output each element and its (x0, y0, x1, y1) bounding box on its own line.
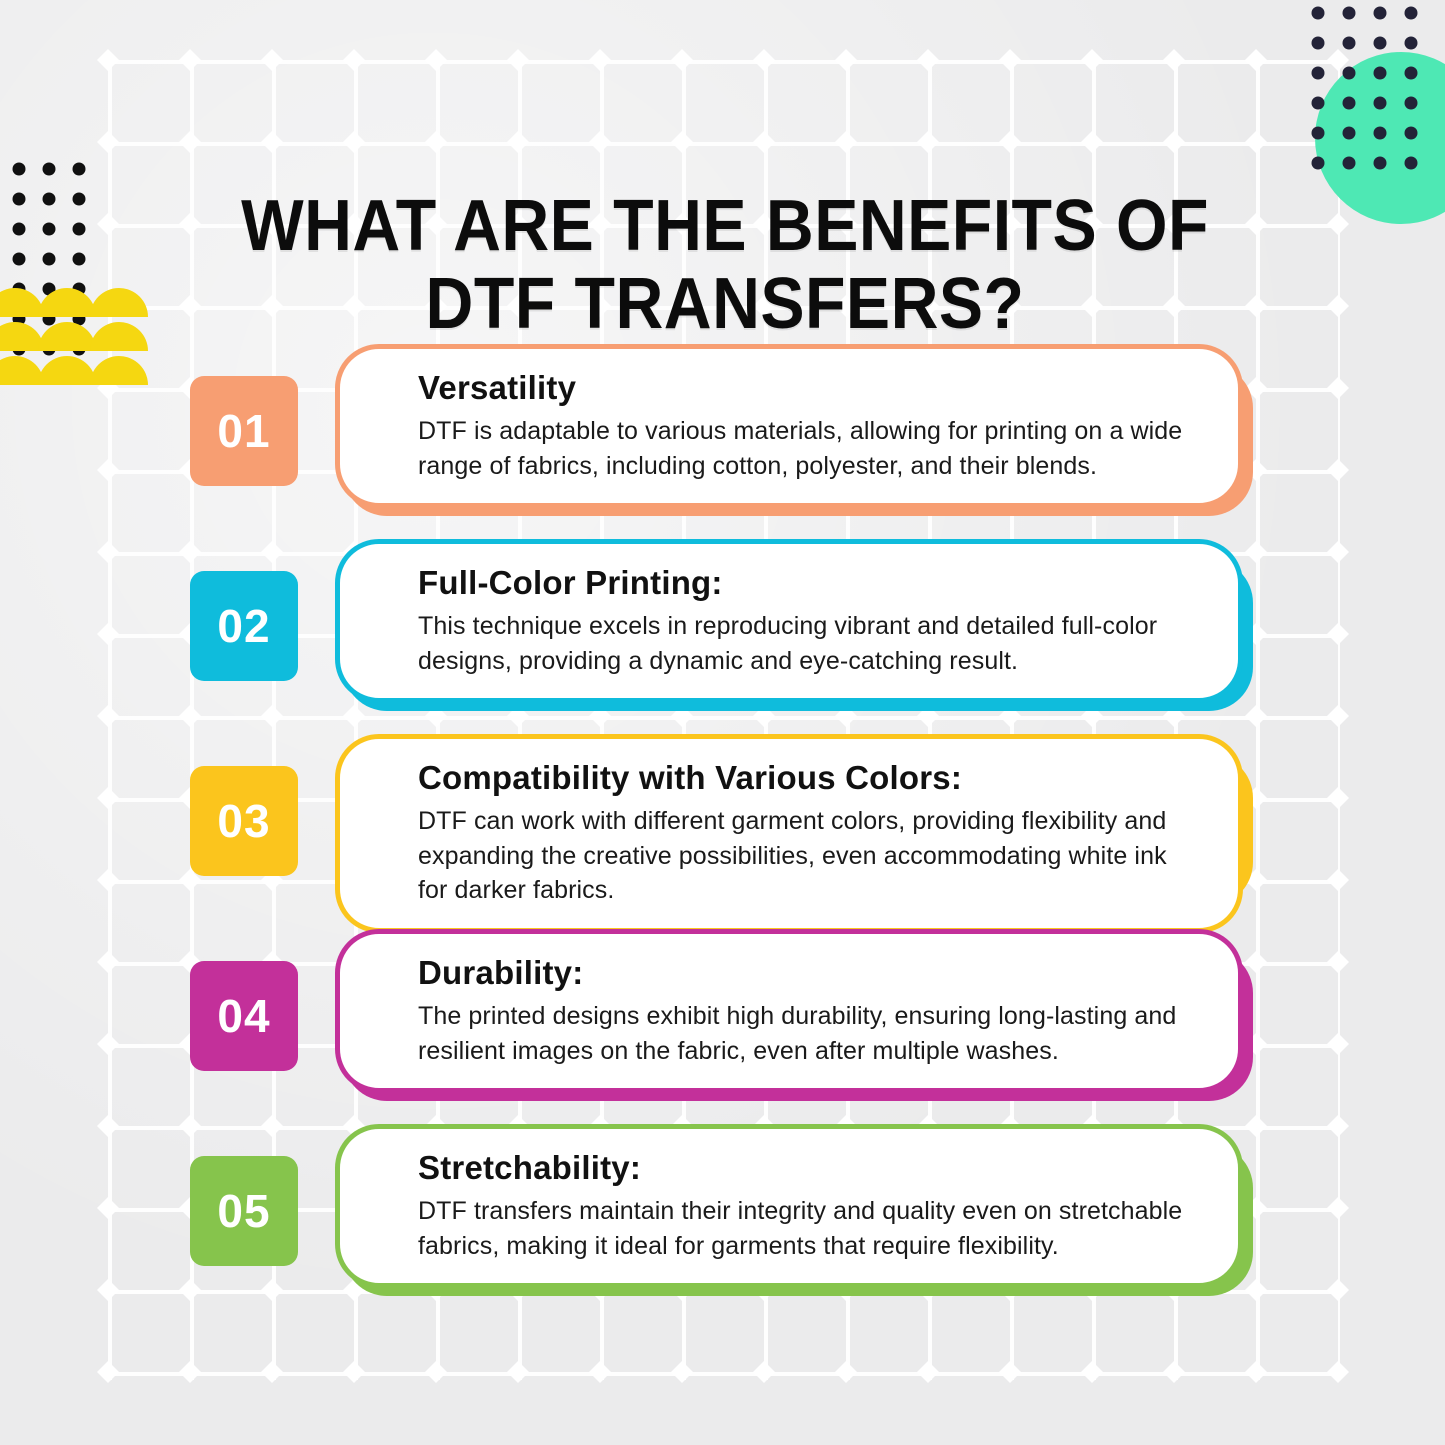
benefit-description: The printed designs exhibit high durabil… (418, 999, 1196, 1068)
benefit-card[interactable]: Compatibility with Various Colors:DTF ca… (335, 734, 1253, 933)
benefit-title: Compatibility with Various Colors: (418, 757, 1196, 798)
benefit-number-badge[interactable]: 03 (190, 766, 298, 876)
card-surface: VersatilityDTF is adaptable to various m… (335, 344, 1243, 508)
infographic-canvas: WHAT ARE THE BENEFITS OF DTF TRANSFERS? … (0, 0, 1445, 1445)
benefit-row: 02Full-Color Printing:This technique exc… (0, 539, 1445, 734)
benefit-card[interactable]: Full-Color Printing:This technique excel… (335, 539, 1253, 703)
card-surface: Full-Color Printing:This technique excel… (335, 539, 1243, 703)
benefit-number-badge[interactable]: 02 (190, 571, 298, 681)
card-surface: Durability:The printed designs exhibit h… (335, 929, 1243, 1093)
card-surface: Compatibility with Various Colors:DTF ca… (335, 734, 1243, 933)
benefit-card[interactable]: Durability:The printed designs exhibit h… (335, 929, 1253, 1093)
benefits-list: 01VersatilityDTF is adaptable to various… (0, 344, 1445, 1319)
benefit-row: 04Durability:The printed designs exhibit… (0, 929, 1445, 1124)
page-title: WHAT ARE THE BENEFITS OF DTF TRANSFERS? (224, 188, 1227, 344)
arch-shape (38, 288, 96, 317)
benefit-card[interactable]: VersatilityDTF is adaptable to various m… (335, 344, 1253, 508)
dot-grid-top-right-icon (1309, 4, 1433, 172)
arch-row (0, 283, 148, 317)
benefit-title: Stretchability: (418, 1147, 1196, 1188)
benefit-description: DTF can work with different garment colo… (418, 804, 1196, 908)
card-surface: Stretchability:DTF transfers maintain th… (335, 1124, 1243, 1288)
benefit-description: DTF transfers maintain their integrity a… (418, 1194, 1196, 1263)
benefit-number-badge[interactable]: 04 (190, 961, 298, 1071)
benefit-row: 03Compatibility with Various Colors:DTF … (0, 734, 1445, 929)
benefit-title: Versatility (418, 367, 1196, 408)
benefit-title: Full-Color Printing: (418, 562, 1196, 603)
benefit-card[interactable]: Stretchability:DTF transfers maintain th… (335, 1124, 1253, 1288)
benefit-number-badge[interactable]: 01 (190, 376, 298, 486)
benefit-number-badge[interactable]: 05 (190, 1156, 298, 1266)
benefit-row: 05Stretchability:DTF transfers maintain … (0, 1124, 1445, 1319)
benefit-description: DTF is adaptable to various materials, a… (418, 414, 1196, 483)
benefit-title: Durability: (418, 952, 1196, 993)
arch-shape (90, 288, 148, 317)
benefit-row: 01VersatilityDTF is adaptable to various… (0, 344, 1445, 539)
benefit-description: This technique excels in reproducing vib… (418, 609, 1196, 678)
